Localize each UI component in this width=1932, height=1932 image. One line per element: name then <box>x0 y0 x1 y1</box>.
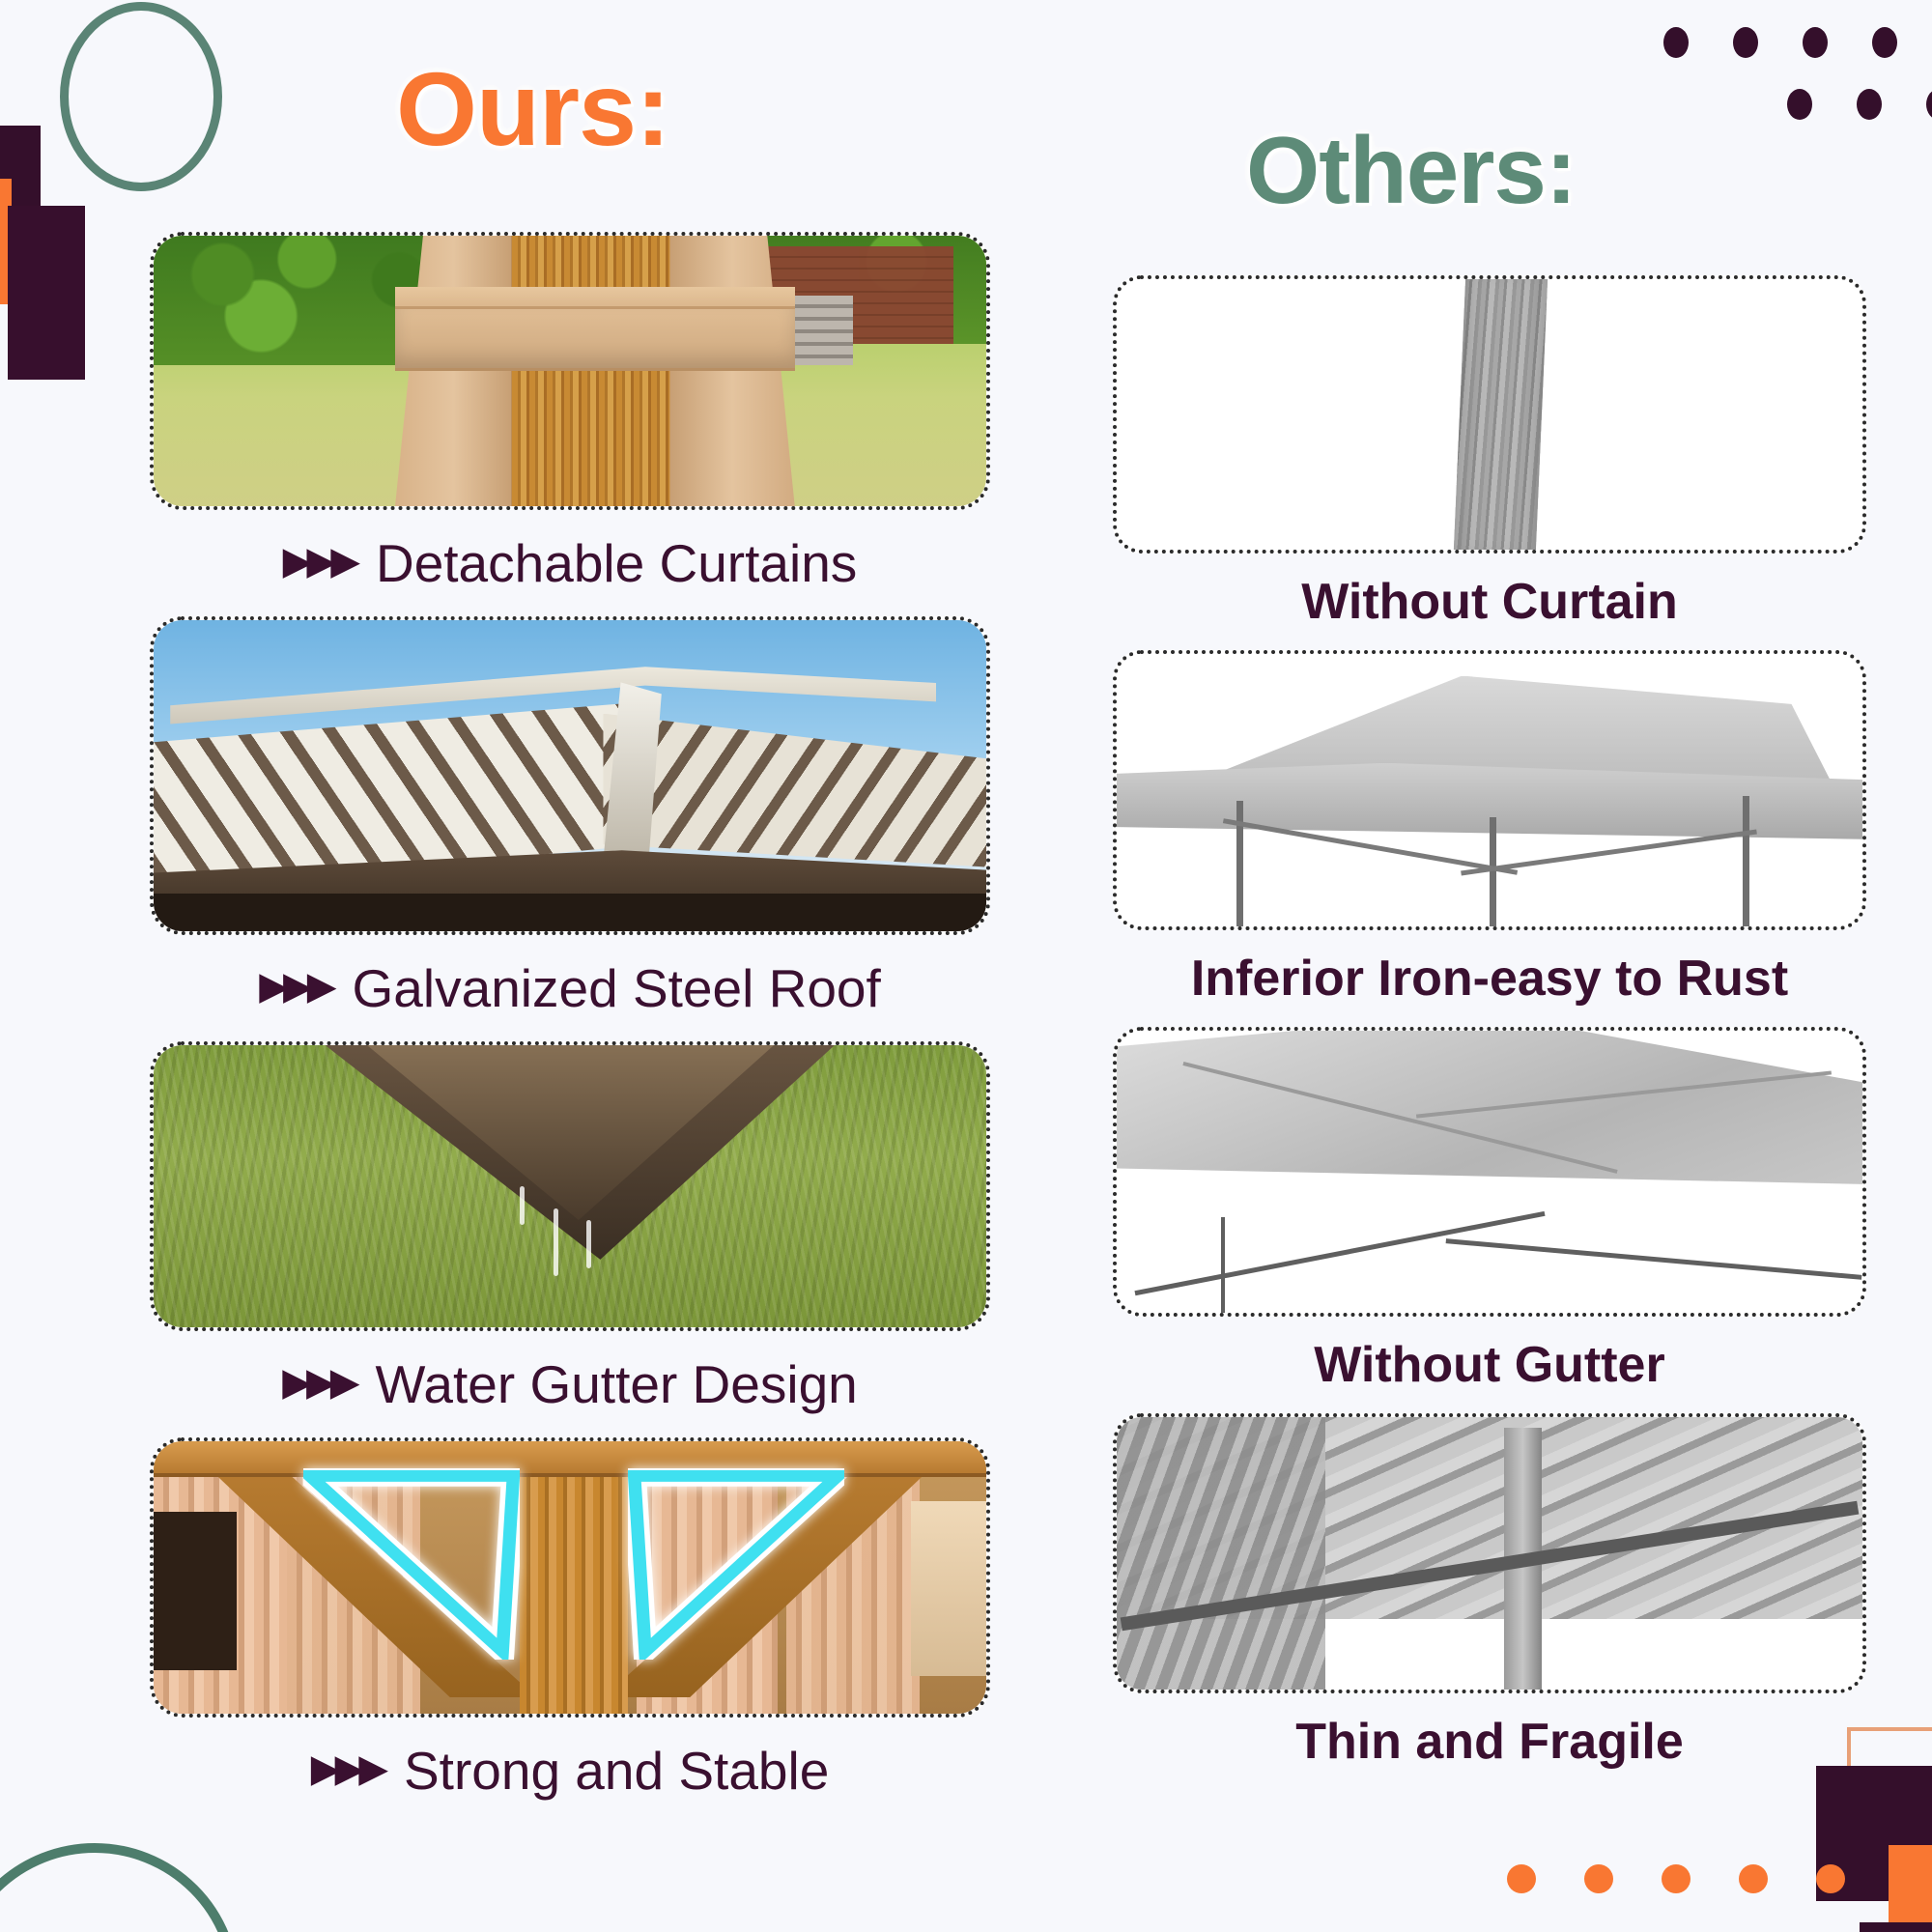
column-others: Without Curtain Inferior Iron-easy to Ru… <box>1113 275 1866 1790</box>
card-others-inferior-iron[interactable] <box>1113 650 1866 930</box>
card-others-thin-and-fragile[interactable] <box>1113 1413 1866 1693</box>
caption-text: Detachable Curtains <box>376 532 857 594</box>
decor-dots-top-right-row-1 <box>1663 27 1932 58</box>
caption-others-row-4: Thin and Fragile <box>1113 1693 1866 1790</box>
decor-circle-top-left <box>60 2 222 191</box>
caption-text: Water Gutter Design <box>376 1353 858 1415</box>
decor-dots-bottom-right <box>1507 1864 1845 1893</box>
water-gutter-corner-photo <box>154 1045 986 1327</box>
card-others-without-curtain[interactable] <box>1113 275 1866 554</box>
arrow-marker-icon: ▶▶▶ <box>282 1363 354 1402</box>
galvanized-steel-roof-photo <box>154 620 986 931</box>
decor-square-bottom-right-orange <box>1889 1845 1932 1932</box>
thin-roof-slats-photo <box>1117 1417 1862 1690</box>
caption-text: Thin and Fragile <box>1295 1713 1684 1771</box>
column-ours: ▶▶▶ Detachable Curtains ▶▶▶ Galvanized S… <box>150 232 990 1824</box>
infographic-root: Ours: Others: ▶▶▶ Detachable Curtains <box>0 0 1932 1932</box>
card-ours-strong-and-stable[interactable] <box>150 1437 990 1718</box>
arrow-marker-icon: ▶▶▶ <box>311 1749 383 1788</box>
card-ours-detachable-curtains[interactable] <box>150 232 990 510</box>
caption-text: Without Curtain <box>1301 573 1677 631</box>
card-ours-galvanized-steel-roof[interactable] <box>150 616 990 935</box>
fabric-pop-up-canopy-photo <box>1117 654 1862 926</box>
highlight-triangle-right-icon <box>628 1468 844 1659</box>
caption-ours-row-2: ▶▶▶ Galvanized Steel Roof <box>150 935 990 1041</box>
caption-ours-row-3: ▶▶▶ Water Gutter Design <box>150 1331 990 1437</box>
card-ours-water-gutter-design[interactable] <box>150 1041 990 1331</box>
caption-others-row-3: Without Gutter <box>1113 1317 1866 1413</box>
plain-tarp-canopy-photo <box>1117 1031 1862 1313</box>
caption-ours-row-4: ▶▶▶ Strong and Stable <box>150 1718 990 1824</box>
caption-text: Galvanized Steel Roof <box>353 957 881 1019</box>
detachable-curtain-tieback-photo <box>154 236 986 506</box>
bare-wooden-post-photo <box>1117 279 1862 550</box>
arrow-marker-icon: ▶▶▶ <box>283 542 355 581</box>
page-title-ours: Ours: <box>396 48 669 169</box>
arrow-marker-icon: ▶▶▶ <box>259 967 330 1006</box>
caption-others-row-2: Inferior Iron-easy to Rust <box>1113 930 1866 1027</box>
corner-brace-frame-photo <box>154 1441 986 1714</box>
decor-square-top-left-lower <box>8 206 85 380</box>
caption-ours-row-1: ▶▶▶ Detachable Curtains <box>150 510 990 616</box>
card-others-without-gutter[interactable] <box>1113 1027 1866 1317</box>
highlight-triangle-left-icon <box>303 1468 520 1659</box>
caption-text: Strong and Stable <box>404 1740 829 1802</box>
caption-text: Inferior Iron-easy to Rust <box>1191 950 1788 1008</box>
decor-dots-top-right-row-2 <box>1787 89 1932 120</box>
page-title-others: Others: <box>1246 116 1577 225</box>
caption-text: Without Gutter <box>1314 1336 1664 1394</box>
decor-square-bottom-right-dark-2 <box>1860 1922 1932 1932</box>
caption-others-row-1: Without Curtain <box>1113 554 1866 650</box>
decor-circle-bottom-left <box>0 1843 240 1932</box>
